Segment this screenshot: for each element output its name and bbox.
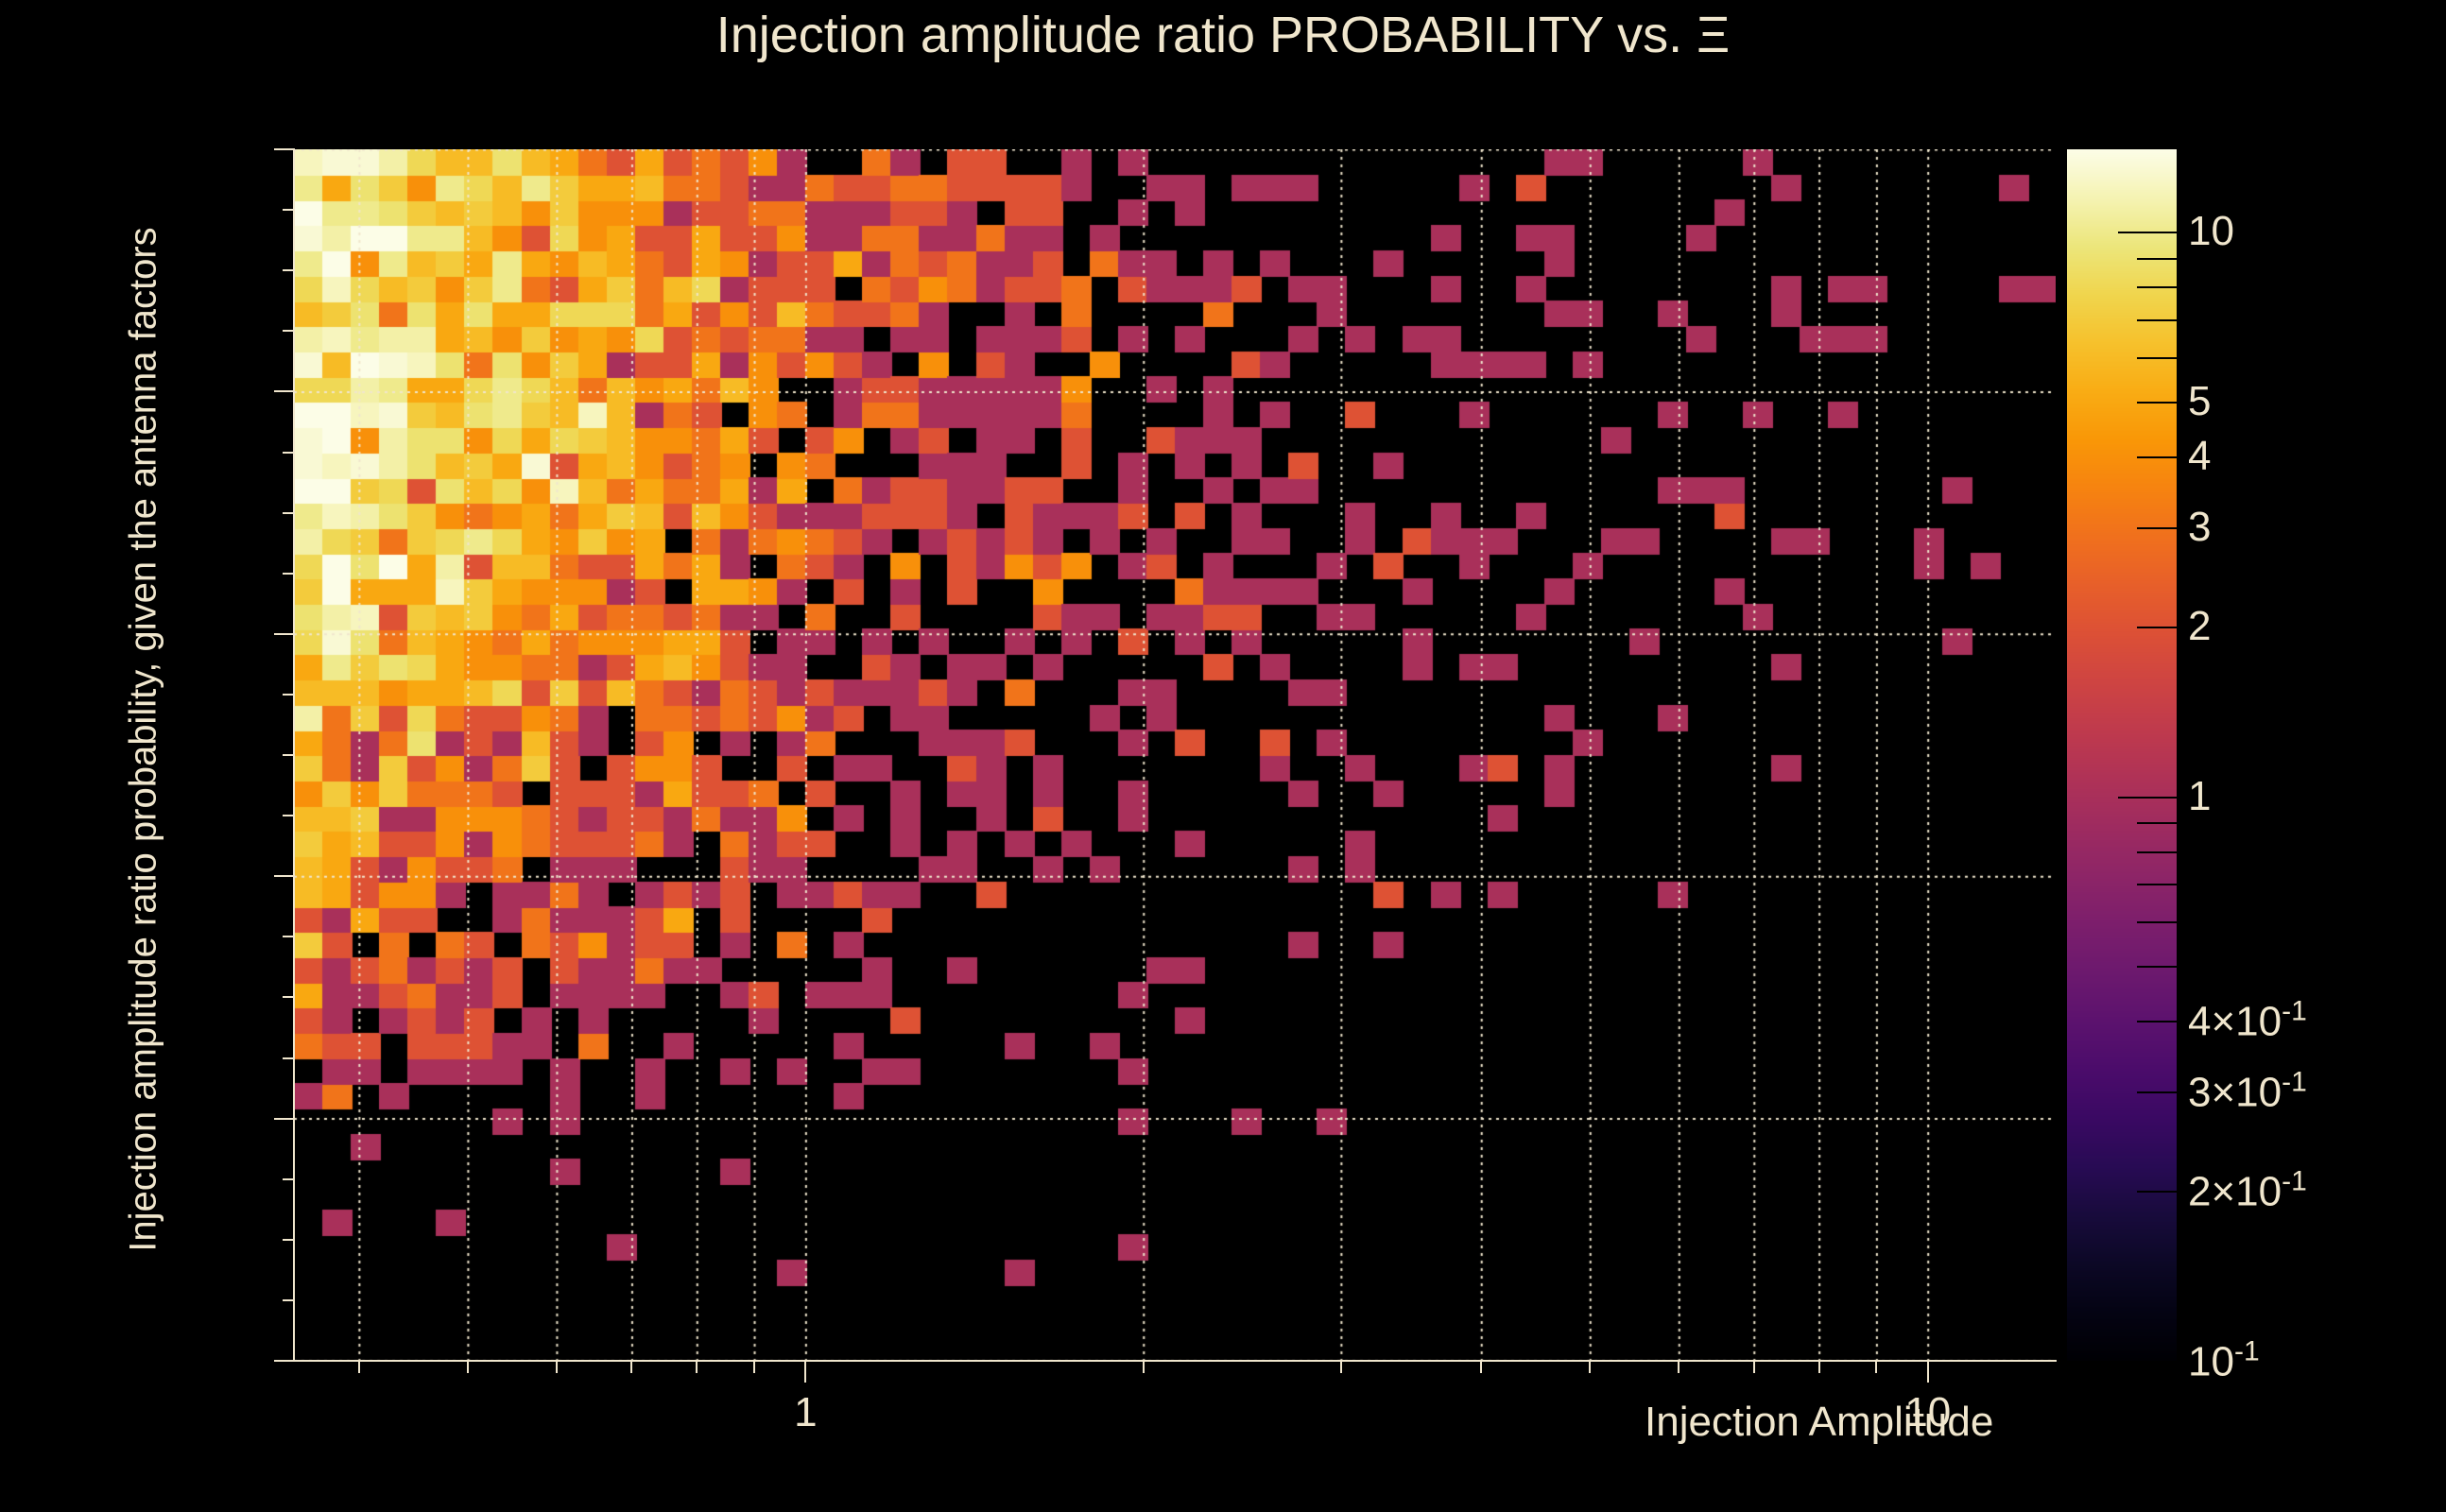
colorbar-minor-tick — [2137, 884, 2177, 885]
x-minor-tick — [1480, 1362, 1482, 1373]
colorbar-minor-tick — [2137, 627, 2177, 628]
y-minor-tick — [283, 269, 295, 271]
y-major-tick — [274, 148, 295, 150]
y-minor-tick — [283, 996, 295, 998]
colorbar-tick-label: 4×10-1 — [2188, 996, 2307, 1046]
y-major-tick — [274, 633, 295, 635]
x-minor-tick — [753, 1362, 755, 1373]
x-minor-tick — [1818, 1362, 1820, 1373]
y-minor-tick — [283, 875, 295, 877]
y-minor-tick — [283, 1239, 295, 1241]
colorbar-minor-tick — [2137, 286, 2177, 288]
colorbar-minor-tick — [2137, 966, 2177, 968]
y-minor-tick — [283, 694, 295, 696]
x-tick-label: 1 — [794, 1389, 817, 1436]
colorbar-minor-tick — [2137, 851, 2177, 853]
colorbar-tick-label: 2×10-1 — [2188, 1166, 2307, 1216]
colorbar-tick-label: 10 — [2188, 208, 2234, 255]
x-major-tick — [804, 1362, 806, 1383]
colorbar-minor-tick — [2137, 357, 2177, 359]
colorbar-tick-labels: 10543214×10-13×10-12×10-110-1 — [2188, 0, 2405, 1512]
colorbar-minor-tick — [2137, 921, 2177, 923]
x-minor-tick — [630, 1362, 632, 1373]
y-minor-tick — [283, 936, 295, 937]
x-axis-tick-labels: 110 — [0, 1389, 2446, 1455]
x-major-tick — [1927, 1362, 1929, 1383]
colorbar-minor-tick — [2137, 1021, 2177, 1022]
x-minor-tick — [1589, 1362, 1591, 1373]
colorbar-major-tick — [2118, 232, 2177, 233]
colorbar[interactable] — [2067, 149, 2177, 1361]
colorbar-tick-label: 4 — [2188, 433, 2211, 480]
y-minor-tick — [283, 1057, 295, 1059]
x-minor-tick — [1340, 1362, 1342, 1373]
y-major-tick — [274, 1118, 295, 1120]
x-minor-tick — [467, 1362, 469, 1373]
y-minor-tick — [283, 1178, 295, 1180]
x-axis-title: Injection Amplitude — [1645, 1399, 1993, 1446]
colorbar-minor-tick — [2137, 1191, 2177, 1193]
plot-title: Injection amplitude ratio PROBABILITY vs… — [0, 6, 2446, 64]
colorbar-minor-tick — [2137, 1091, 2177, 1093]
colorbar-minor-tick — [2137, 402, 2177, 404]
colorbar-major-tick — [2118, 797, 2177, 799]
y-minor-tick — [283, 512, 295, 514]
x-minor-tick — [358, 1362, 360, 1373]
colorbar-major-tick — [2118, 1361, 2177, 1363]
x-minor-tick — [556, 1362, 558, 1373]
x-minor-tick — [1678, 1362, 1679, 1373]
y-axis-title: Injection amplitude ratio probability, g… — [123, 126, 165, 1354]
colorbar-minor-tick — [2137, 258, 2177, 260]
colorbar-tick-label: 3×10-1 — [2188, 1067, 2307, 1117]
y-minor-tick — [283, 754, 295, 756]
colorbar-minor-tick — [2137, 319, 2177, 321]
y-minor-tick — [283, 815, 295, 816]
colorbar-tick-label: 3 — [2188, 504, 2211, 551]
heatmap-canvas — [294, 149, 2056, 1361]
y-minor-tick — [283, 330, 295, 332]
y-minor-tick — [283, 1299, 295, 1301]
x-minor-tick — [696, 1362, 698, 1373]
colorbar-minor-tick — [2137, 527, 2177, 529]
y-minor-tick — [283, 209, 295, 211]
x-minor-tick — [1143, 1362, 1145, 1373]
y-major-tick — [274, 1360, 295, 1362]
colorbar-tick-label: 2 — [2188, 603, 2211, 650]
figure-root: Injection amplitude ratio PROBABILITY vs… — [0, 0, 2446, 1512]
heatmap-plot-area[interactable] — [294, 149, 2056, 1361]
colorbar-ticks — [2067, 149, 2177, 1361]
x-minor-tick — [1875, 1362, 1877, 1373]
colorbar-minor-tick — [2137, 822, 2177, 824]
x-minor-tick — [1753, 1362, 1755, 1373]
colorbar-tick-label: 10-1 — [2188, 1336, 2260, 1386]
y-minor-tick — [283, 452, 295, 454]
y-major-tick — [274, 390, 295, 392]
y-minor-tick — [283, 573, 295, 575]
colorbar-minor-tick — [2137, 456, 2177, 458]
x-axis-line — [294, 1360, 2057, 1362]
colorbar-tick-label: 5 — [2188, 378, 2211, 425]
colorbar-tick-label: 1 — [2188, 773, 2211, 820]
